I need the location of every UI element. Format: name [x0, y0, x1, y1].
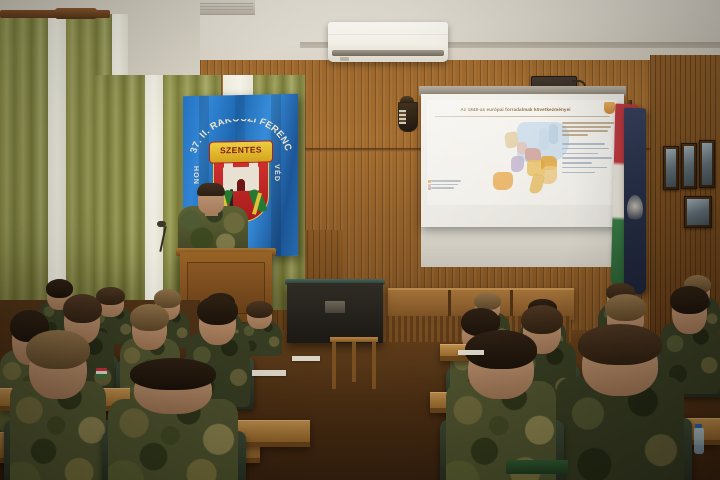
side-table — [330, 337, 378, 389]
crest-ribbon: SZENTES — [209, 140, 273, 163]
soldier-mid-8-hair — [670, 286, 708, 314]
banner-text-right: VÉD — [273, 164, 289, 224]
slide-text-block — [562, 122, 614, 176]
green-folder[interactable] — [506, 460, 568, 474]
soldier-back-5-hair — [246, 301, 273, 318]
soldier-mid-7-hair — [605, 294, 646, 321]
av-cabinet[interactable] — [287, 283, 383, 343]
crest-label: SZENTES — [210, 141, 272, 159]
soldier-back-1-hair — [46, 279, 73, 298]
slide-title: Az 1848-as európai forradalmak következm… — [437, 104, 594, 115]
paper-sheet-2[interactable] — [292, 356, 320, 361]
soldier-mid-3-hair — [130, 304, 168, 331]
curtain-panel-1[interactable] — [0, 14, 48, 310]
ceiling-vent — [195, 0, 255, 15]
soldier-mid-6-hair — [521, 305, 563, 334]
slide-content: Az 1848-as európai forradalmak következm… — [427, 100, 618, 205]
slide-title-rule — [435, 116, 610, 117]
slide-logo-icon — [604, 102, 615, 114]
bottle-cap — [695, 424, 702, 428]
photo-scene: Az 1848-as európai forradalmak következm… — [0, 0, 720, 480]
paper-sheet-1[interactable] — [252, 370, 286, 376]
soldier-front-3-hair — [578, 324, 662, 365]
flag-emblem — [627, 195, 643, 223]
soldier-front-2-hair — [130, 358, 216, 390]
framed-picture-1 — [663, 146, 679, 190]
slide-legend — [431, 180, 461, 191]
castle-charge — [223, 167, 259, 192]
soldier-mid-4-hair — [197, 296, 238, 325]
air-conditioner[interactable] — [328, 22, 448, 62]
presenter-hair — [197, 183, 225, 196]
shoulder-flag-patch — [96, 368, 107, 377]
hungarian-coat-of-arms-icon — [396, 96, 418, 136]
soldier-front-1-hair — [26, 330, 89, 369]
europe-map — [483, 122, 569, 200]
banner-right-label: VÉD — [273, 164, 280, 182]
screen-lower — [421, 227, 624, 267]
paper-sheet-3[interactable] — [458, 350, 484, 355]
projection-screen[interactable]: Az 1848-as európai forradalmak következm… — [421, 94, 624, 227]
banner-left-label: HON — [192, 166, 199, 185]
av-control-panel[interactable] — [325, 301, 345, 313]
water-bottle[interactable] — [694, 428, 704, 454]
soldier-mid-2-hair — [63, 294, 103, 324]
framed-picture-3 — [699, 140, 715, 188]
curtain-panel-3[interactable] — [95, 75, 145, 310]
curtain-rod-finial — [55, 8, 97, 19]
framed-picture-4 — [684, 196, 712, 228]
microphone-icon — [157, 221, 166, 227]
framed-picture-2 — [681, 143, 697, 189]
